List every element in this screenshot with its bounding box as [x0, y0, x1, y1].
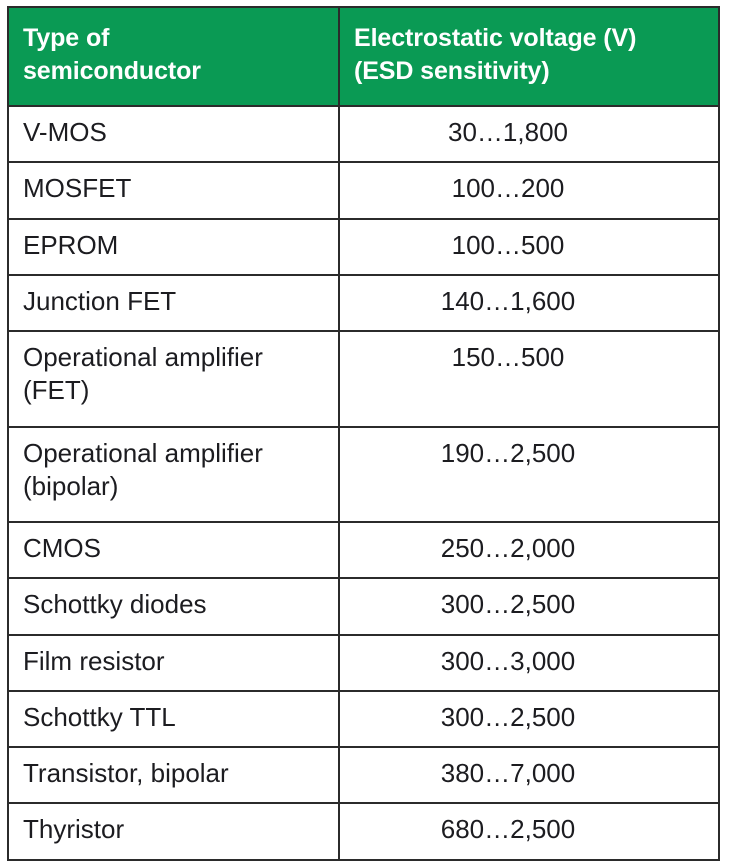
column-header-type-line-2: semiconductor — [23, 55, 326, 88]
column-header-voltage-line-1: Electrostatic voltage (V) — [354, 22, 706, 55]
cell-electrostatic-voltage: 100…500 — [339, 219, 719, 275]
cell-type-line: (FET) — [23, 374, 328, 407]
table-row: Schottky diodes300…2,500 — [8, 578, 719, 634]
table-row: MOSFET100…200 — [8, 162, 719, 218]
cell-type-line: CMOS — [23, 532, 328, 565]
table-row: Schottky TTL300…2,500 — [8, 691, 719, 747]
cell-type-line: V-MOS — [23, 116, 328, 149]
cell-type-line: EPROM — [23, 229, 328, 262]
table-row: Thyristor680…2,500 — [8, 803, 719, 859]
cell-semiconductor-type: Film resistor — [8, 635, 339, 691]
table-row: EPROM100…500 — [8, 219, 719, 275]
column-header-type: Type of semiconductor — [8, 7, 339, 106]
cell-electrostatic-voltage: 100…200 — [339, 162, 719, 218]
cell-type-line: Transistor, bipolar — [23, 757, 328, 790]
cell-semiconductor-type: Schottky TTL — [8, 691, 339, 747]
cell-semiconductor-type: Transistor, bipolar — [8, 747, 339, 803]
table-row: CMOS250…2,000 — [8, 522, 719, 578]
cell-electrostatic-voltage: 380…7,000 — [339, 747, 719, 803]
cell-type-line: Thyristor — [23, 813, 328, 846]
table-header: Type of semiconductor Electrostatic volt… — [8, 7, 719, 106]
cell-semiconductor-type: Schottky diodes — [8, 578, 339, 634]
cell-semiconductor-type: MOSFET — [8, 162, 339, 218]
cell-electrostatic-voltage: 300…2,500 — [339, 691, 719, 747]
cell-electrostatic-voltage: 150…500 — [339, 331, 719, 427]
table-row: Junction FET140…1,600 — [8, 275, 719, 331]
cell-electrostatic-voltage: 30…1,800 — [339, 106, 719, 162]
esd-sensitivity-table: Type of semiconductor Electrostatic volt… — [7, 6, 720, 861]
cell-electrostatic-voltage: 140…1,600 — [339, 275, 719, 331]
column-header-voltage-line-2: (ESD sensitivity) — [354, 55, 706, 88]
cell-type-line: MOSFET — [23, 172, 328, 205]
page-canvas: Type of semiconductor Electrostatic volt… — [0, 0, 740, 841]
cell-semiconductor-type: Thyristor — [8, 803, 339, 859]
cell-electrostatic-voltage: 300…2,500 — [339, 578, 719, 634]
cell-electrostatic-voltage: 190…2,500 — [339, 427, 719, 523]
cell-electrostatic-voltage: 250…2,000 — [339, 522, 719, 578]
table-body: V-MOS30…1,800MOSFET100…200EPROM100…500Ju… — [8, 106, 719, 860]
column-header-voltage: Electrostatic voltage (V) (ESD sensitivi… — [339, 7, 719, 106]
cell-semiconductor-type: Operational amplifier(bipolar) — [8, 427, 339, 523]
cell-electrostatic-voltage: 300…3,000 — [339, 635, 719, 691]
table-row: Operational amplifier(bipolar)190…2,500 — [8, 427, 719, 523]
cell-semiconductor-type: V-MOS — [8, 106, 339, 162]
cell-semiconductor-type: Operational amplifier(FET) — [8, 331, 339, 427]
column-header-type-line-1: Type of — [23, 22, 326, 55]
table-row: Transistor, bipolar380…7,000 — [8, 747, 719, 803]
cell-type-line: Junction FET — [23, 285, 328, 318]
table-row: Operational amplifier(FET)150…500 — [8, 331, 719, 427]
cell-type-line: Schottky TTL — [23, 701, 328, 734]
cell-type-line: (bipolar) — [23, 470, 328, 503]
cell-semiconductor-type: Junction FET — [8, 275, 339, 331]
cell-semiconductor-type: CMOS — [8, 522, 339, 578]
header-row: Type of semiconductor Electrostatic volt… — [8, 7, 719, 106]
cell-electrostatic-voltage: 680…2,500 — [339, 803, 719, 859]
table-row: Film resistor300…3,000 — [8, 635, 719, 691]
cell-semiconductor-type: EPROM — [8, 219, 339, 275]
cell-type-line: Operational amplifier — [23, 437, 328, 470]
table-row: V-MOS30…1,800 — [8, 106, 719, 162]
cell-type-line: Schottky diodes — [23, 588, 328, 621]
cell-type-line: Operational amplifier — [23, 341, 328, 374]
cell-type-line: Film resistor — [23, 645, 328, 678]
